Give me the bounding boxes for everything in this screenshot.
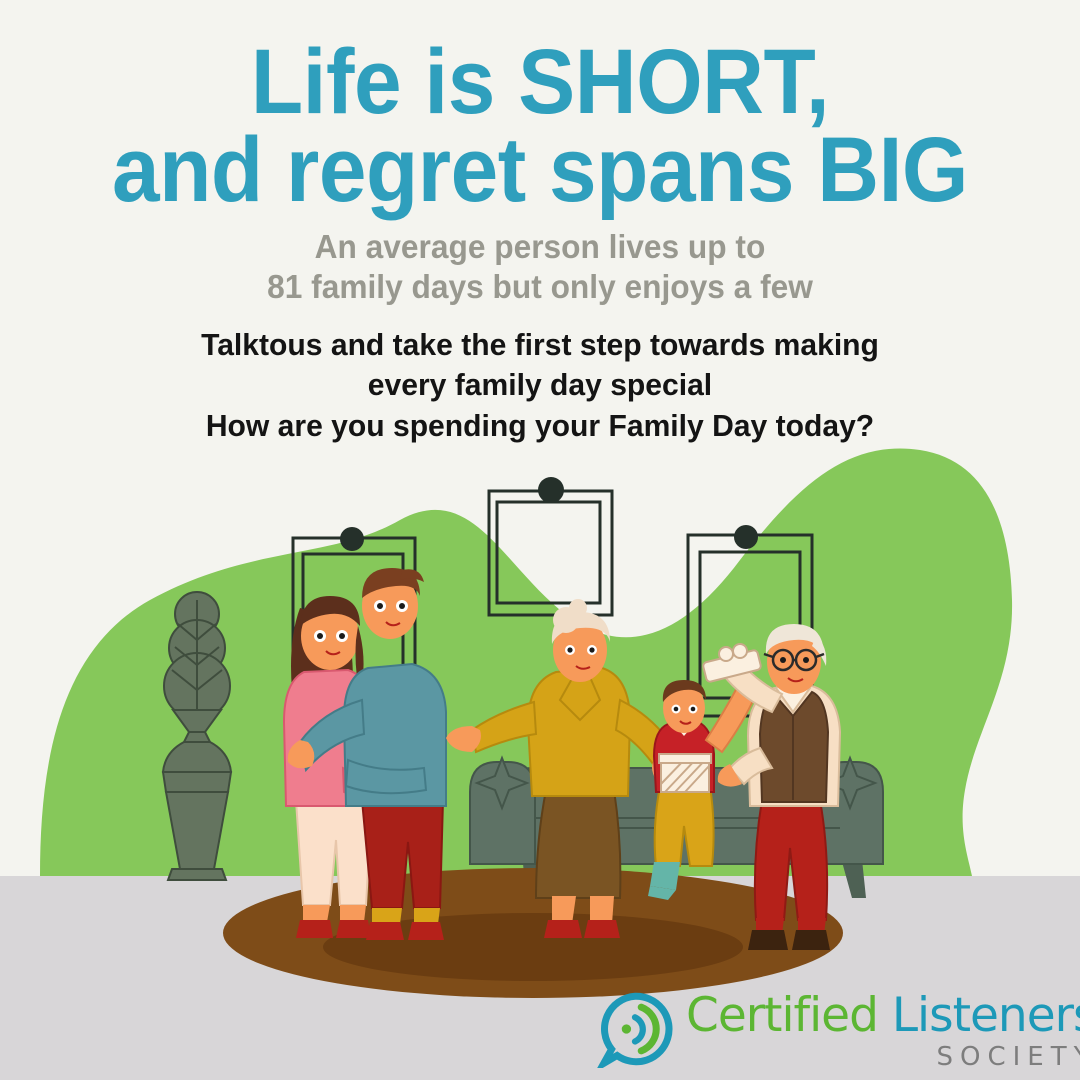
body-line-1: Talktous and take the first step towards…	[16, 325, 1064, 365]
logo-wordmark: Certified Listeners SOCIETY	[686, 988, 1080, 1072]
body-line-3: How are you spending your Family Day tod…	[16, 406, 1064, 446]
subheading-line-1: An average person lives up to	[22, 227, 1059, 267]
logo-word-certified: Certified	[686, 988, 878, 1043]
gift-box	[659, 754, 711, 792]
subheading: An average person lives up to 81 family …	[22, 227, 1059, 308]
body-copy: Talktous and take the first step towards…	[16, 325, 1064, 446]
subheading-line-2: 81 family days but only enjoys a few	[22, 267, 1059, 307]
body-line-2: every family day special	[16, 365, 1064, 405]
listening-speech-bubble-icon	[596, 990, 674, 1068]
logo-name-line: Certified Listeners	[686, 992, 1080, 1039]
headline-text-block: Life is SHORT, and regret spans BIG An a…	[0, 0, 1080, 446]
poster-canvas: Life is SHORT, and regret spans BIG An a…	[0, 0, 1080, 1080]
headline-line-1: Life is SHORT,	[38, 38, 1042, 126]
headline-line-2: and regret spans BIG	[38, 126, 1042, 214]
brand-logo: Certified Listeners SOCIETY	[596, 988, 1056, 1074]
logo-word-listeners: Listeners	[892, 988, 1080, 1043]
logo-word-society: SOCIETY	[686, 1042, 1080, 1072]
page-title: Life is SHORT, and regret spans BIG	[38, 0, 1042, 215]
